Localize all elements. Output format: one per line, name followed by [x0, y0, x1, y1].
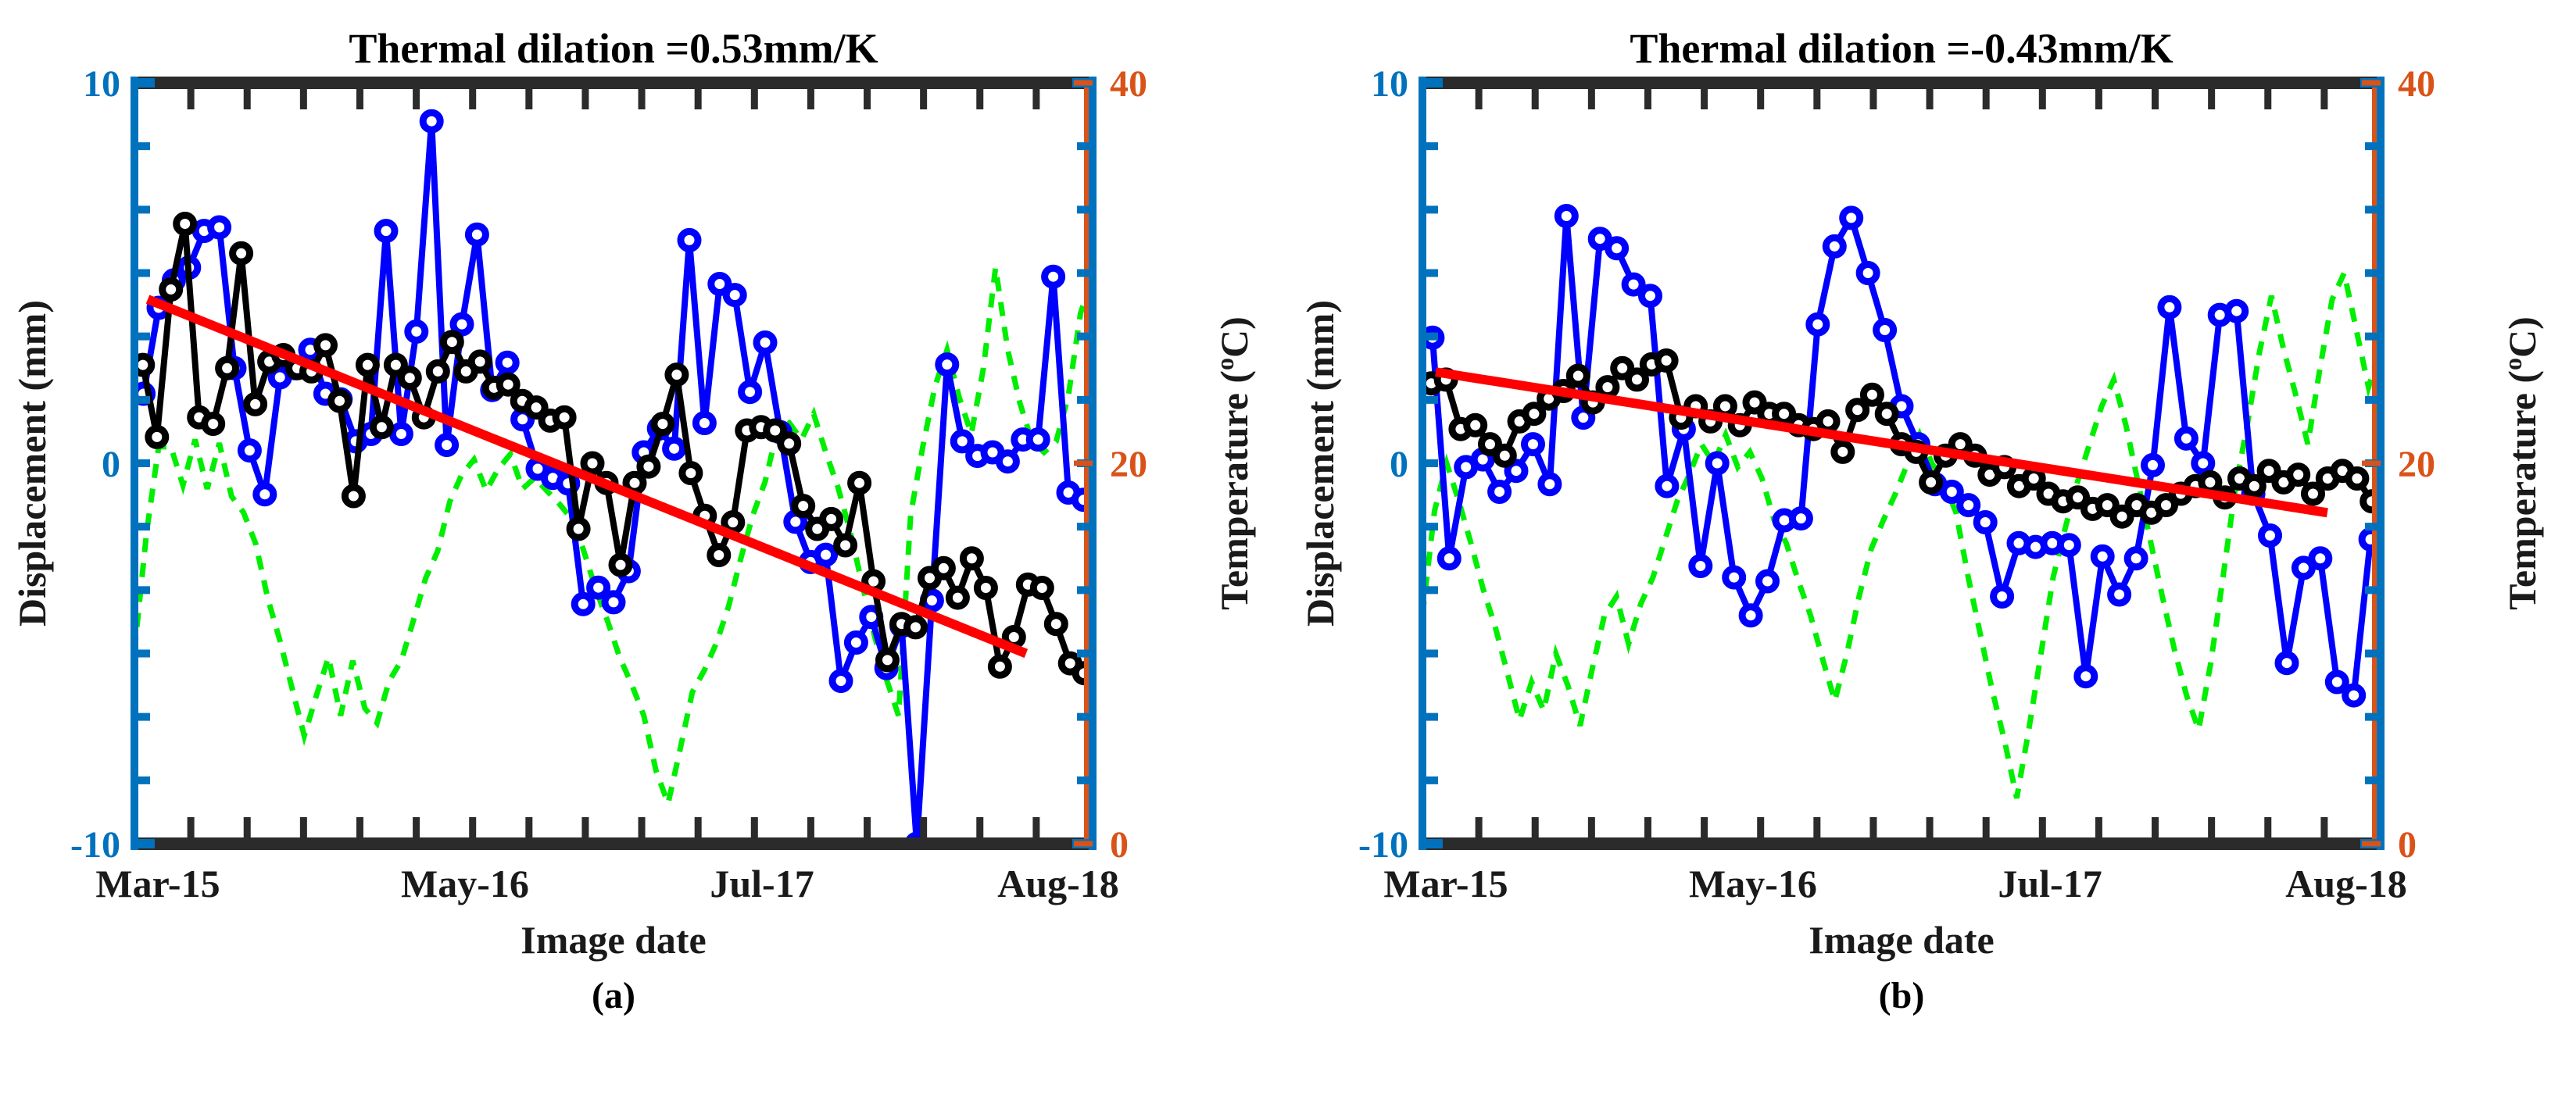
series-displacement-marker — [219, 359, 236, 377]
series-displacement-marker — [429, 362, 446, 380]
chart-panel-b: Thermal dilation =-0.43mm/K100-1040200Ma… — [1288, 0, 2576, 1107]
series-temperature-marker — [666, 440, 683, 457]
series-temperature-marker — [468, 226, 485, 243]
series-displacement-marker — [1496, 447, 1513, 464]
series-temperature-marker — [1029, 431, 1046, 448]
chart-title-b: Thermal dilation =-0.43mm/K — [1630, 25, 2173, 72]
series-displacement-marker — [331, 392, 349, 409]
series-temperature-marker — [818, 546, 835, 563]
series-temperature-marker — [438, 437, 456, 454]
chart-panel-a: Thermal dilation =0.53mm/K100-1040200Mar… — [0, 0, 1288, 1107]
series-temperature-marker — [953, 433, 971, 450]
series-temperature-marker — [1994, 588, 2011, 605]
y-right-ticklabel: 20 — [1110, 444, 1147, 485]
series-displacement-marker — [345, 487, 362, 505]
series-displacement-marker — [991, 658, 1008, 675]
series-displacement-marker — [373, 419, 390, 436]
series-temperature-marker — [2161, 298, 2178, 316]
y-left-ticklabel: -10 — [70, 824, 120, 866]
series-temperature-marker — [1558, 208, 1575, 225]
x-ticklabel: May-16 — [401, 862, 529, 905]
panel-letter-a: (a) — [592, 975, 635, 1016]
y-right-ticklabel: 40 — [1110, 63, 1147, 105]
series-temperature-marker — [681, 231, 698, 248]
y-left-ticklabel: 10 — [83, 63, 120, 105]
y-right-ticklabel: 20 — [2398, 444, 2435, 485]
series-displacement-marker — [584, 455, 601, 472]
series-temperature-marker — [605, 594, 622, 611]
y-axis-label-right-a: Temperature (oC) — [1211, 316, 1256, 610]
series-temperature-marker — [241, 442, 258, 459]
x-ticklabel: Aug-18 — [997, 862, 1119, 905]
series-temperature-marker — [423, 112, 440, 130]
series-displacement-marker — [907, 619, 925, 636]
series-temperature-marker — [1759, 573, 1776, 590]
series-temperature-marker — [1491, 484, 1508, 501]
series-temperature-marker — [939, 356, 956, 373]
series-displacement-marker — [837, 537, 854, 554]
series-displacement-marker — [2349, 470, 2366, 487]
series-temperature-marker — [1859, 265, 1877, 282]
series-displacement-marker — [963, 550, 980, 567]
series-temperature-marker — [847, 634, 864, 652]
series-displacement-marker — [1467, 416, 1484, 434]
series-temperature-marker — [1792, 510, 1809, 527]
series-displacement-marker — [233, 245, 250, 262]
series-displacement-marker — [499, 376, 517, 393]
series-displacement-marker — [1526, 405, 1543, 423]
series-displacement-marker — [1629, 371, 1646, 388]
series-displacement-marker — [317, 337, 335, 354]
panel-letter-b: (b) — [1879, 975, 1925, 1016]
chart-title-a: Thermal dilation =0.53mm/K — [349, 25, 878, 72]
series-temperature-marker — [377, 223, 395, 240]
x-ticklabel: Mar-15 — [1383, 862, 1508, 905]
series-temperature-marker — [696, 415, 713, 432]
series-temperature-marker — [2145, 456, 2162, 473]
series-displacement-marker — [556, 409, 573, 426]
series-displacement-marker — [851, 474, 868, 491]
series-temperature-marker — [742, 384, 759, 401]
series-temperature-marker — [2312, 550, 2329, 567]
x-ticklabel: Aug-18 — [2285, 862, 2407, 905]
series-displacement-marker — [1033, 580, 1050, 597]
series-displacement-marker — [1834, 443, 1851, 460]
series-displacement-marker — [1923, 473, 1940, 491]
series-temperature-marker — [1642, 287, 1659, 305]
series-displacement-marker — [570, 520, 587, 537]
series-displacement-marker — [401, 370, 418, 387]
series-displacement-marker — [710, 547, 728, 564]
series-displacement-marker — [2202, 473, 2219, 491]
y-left-ticklabel: 10 — [1371, 63, 1408, 105]
y-right-ticklabel: 0 — [1110, 824, 1129, 866]
series-temperature-marker — [211, 219, 228, 236]
series-temperature-marker — [574, 595, 592, 612]
series-temperature-marker — [2111, 586, 2128, 603]
series-displacement-marker — [977, 580, 994, 597]
x-ticklabel: May-16 — [1689, 862, 1817, 905]
series-displacement-marker — [443, 334, 460, 351]
x-ticklabel: Jul-17 — [710, 862, 814, 905]
series-displacement-marker — [247, 395, 264, 412]
y-left-ticklabel: 0 — [102, 444, 120, 485]
series-temperature-marker — [590, 579, 607, 596]
y-left-ticklabel: 0 — [1390, 444, 1408, 485]
series-temperature-marker — [1726, 569, 1743, 586]
series-displacement-marker — [471, 353, 488, 370]
x-ticklabel: Jul-17 — [1998, 862, 2102, 905]
series-temperature-marker — [1943, 484, 1960, 501]
series-temperature-marker — [2177, 430, 2195, 447]
series-temperature-marker — [1826, 237, 1843, 255]
series-temperature-marker — [408, 323, 425, 340]
series-temperature-marker — [2262, 527, 2279, 545]
series-temperature-marker — [1541, 476, 1558, 493]
figure-root: Thermal dilation =0.53mm/K100-1040200Mar… — [0, 0, 2576, 1107]
series-temperature-marker — [392, 426, 410, 443]
series-displacement-marker — [1658, 352, 1675, 370]
series-temperature-marker — [2077, 668, 2095, 685]
series-temperature-marker — [1742, 607, 1759, 624]
series-temperature-marker — [1608, 240, 1626, 257]
series-displacement-marker — [879, 652, 896, 669]
series-temperature-marker — [2127, 550, 2145, 567]
y-right-ticklabel: 0 — [2398, 824, 2417, 866]
series-displacement-marker — [640, 458, 657, 475]
series-displacement-marker — [163, 281, 180, 298]
series-temperature-marker — [1525, 436, 1542, 453]
series-temperature-marker — [999, 453, 1016, 470]
series-displacement-marker — [1599, 379, 1616, 396]
series-displacement-marker — [1047, 616, 1064, 633]
series-temperature-marker — [453, 316, 470, 333]
chart-svg-b: Thermal dilation =-0.43mm/K100-1040200Ma… — [1288, 0, 2576, 1107]
y-axis-label-left-b: Displacement (mm) — [1298, 300, 1342, 627]
series-displacement-marker — [935, 559, 952, 577]
series-temperature-marker — [2228, 302, 2245, 320]
series-displacement-marker — [949, 589, 966, 606]
x-ticklabel: Mar-15 — [95, 862, 220, 905]
series-temperature-marker — [832, 673, 850, 690]
series-temperature-marker — [1977, 514, 1994, 531]
series-temperature-marker — [1877, 322, 1894, 339]
series-displacement-marker — [2025, 470, 2042, 487]
series-temperature-marker — [757, 334, 774, 352]
series-displacement-marker — [1569, 367, 1587, 384]
series-displacement-marker — [668, 366, 685, 384]
series-temperature-marker — [1692, 558, 1709, 575]
series-temperature-marker — [2195, 455, 2212, 472]
series-temperature-marker — [256, 486, 274, 503]
series-displacement-marker — [795, 498, 812, 515]
series-displacement-marker — [148, 428, 166, 445]
series-temperature-marker — [2345, 687, 2363, 704]
y-axis-label-left-a: Displacement (mm) — [10, 300, 54, 627]
series-temperature-marker — [1045, 268, 1062, 285]
series-temperature-marker — [726, 287, 743, 304]
series-displacement-marker — [1878, 405, 1895, 423]
series-displacement-marker — [359, 356, 376, 373]
series-temperature-marker — [499, 354, 516, 371]
series-displacement-marker — [2305, 485, 2322, 502]
series-displacement-marker — [1863, 386, 1880, 403]
x-axis-label-b: Image date — [1809, 918, 1994, 962]
y-left-ticklabel: -10 — [1358, 824, 1408, 866]
series-displacement-marker — [177, 216, 194, 233]
series-temperature-marker — [2060, 537, 2077, 554]
series-displacement-marker — [654, 416, 671, 433]
series-temperature-marker — [2094, 548, 2111, 565]
series-temperature-marker — [1658, 477, 1676, 495]
x-axis-label-a: Image date — [521, 918, 706, 962]
series-temperature-marker — [1708, 455, 1726, 472]
series-displacement-marker — [612, 556, 629, 573]
y-axis-label-right-b: Temperature (oC) — [2499, 316, 2544, 610]
series-displacement-marker — [2245, 477, 2263, 495]
series-displacement-marker — [823, 510, 840, 527]
series-temperature-marker — [1809, 316, 1826, 333]
series-temperature-marker — [1960, 497, 1977, 514]
series-displacement-marker — [205, 416, 222, 433]
series-displacement-marker — [1819, 412, 1837, 430]
chart-svg-a: Thermal dilation =0.53mm/K100-1040200Mar… — [0, 0, 1288, 1107]
series-displacement-marker — [682, 465, 699, 482]
y-right-ticklabel: 40 — [2398, 63, 2435, 105]
series-temperature-marker — [1843, 209, 1860, 227]
series-displacement-marker — [781, 435, 798, 452]
series-temperature-marker — [1440, 550, 1458, 567]
series-temperature-marker — [2278, 655, 2295, 672]
series-displacement-marker — [1849, 402, 1866, 419]
series-temperature-marker — [2328, 673, 2345, 691]
series-displacement-marker — [2290, 466, 2307, 484]
